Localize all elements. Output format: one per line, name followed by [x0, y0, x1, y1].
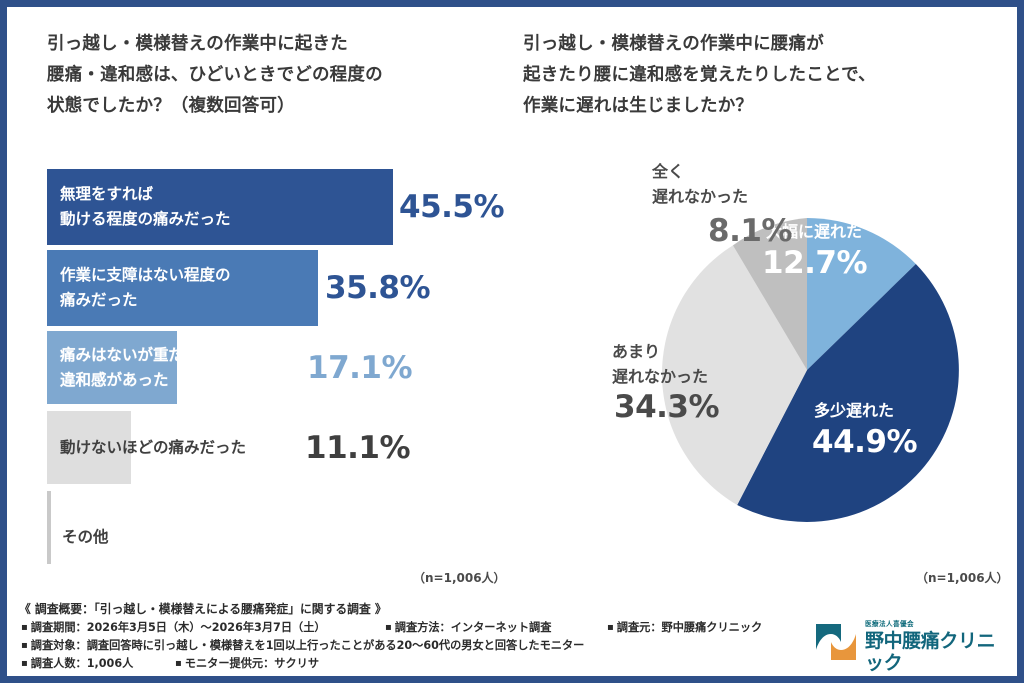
- logo-clinic-name: 野中腰痛クリニック: [865, 630, 1005, 674]
- pie-label-あまり遅れなかった: あまり 遅れなかった: [612, 339, 708, 389]
- bar-chart: 無理をすれば 動ける程度の痛みだった 45.5% 作業に支障はない程度の 痛みだ…: [7, 7, 512, 676]
- bar-fill: [47, 491, 51, 564]
- bar-value: 35.8%: [325, 270, 430, 306]
- bar-value: 11.1%: [305, 430, 410, 466]
- bar-label: その他: [62, 525, 109, 550]
- pie-value-あまり遅れなかった: 34.3%: [614, 389, 719, 425]
- bar-row: 動けないほどの痛みだった 11.1%: [47, 411, 407, 484]
- footer-heading: 《 調査概要：「引っ越し・模様替えによる腰痛発症」に関する調査 》: [19, 600, 387, 617]
- right-n-label: （n=1,006人）: [916, 569, 1009, 586]
- page-frame: 引っ越し・模様替えの作業中に起きた 腰痛・違和感は、ひどいときでどの程度の 状態…: [0, 0, 1024, 683]
- bar-value: 45.5%: [399, 189, 504, 225]
- footer-method: 調査方法：インターネット調査: [385, 619, 551, 635]
- logo-n-mark-icon: [813, 620, 859, 664]
- pie-value-全く遅れなかった: 8.1%: [708, 213, 792, 249]
- pie-label-多少遅れた: 多少遅れた: [814, 398, 894, 423]
- bar-label: 動けないほどの痛みだった: [60, 435, 246, 460]
- logo-text-block: 医療法人喜優会 野中腰痛クリニック Nonaka Lumbago Clinic: [865, 616, 1005, 676]
- bar-row: 無理をすれば 動ける程度の痛みだった 45.5%: [47, 169, 407, 245]
- bar-label: 無理をすれば 動ける程度の痛みだった: [60, 182, 231, 232]
- pie-label-全く遅れなかった: 全く 遅れなかった: [652, 159, 748, 209]
- footer-period: 調査期間：2026年3月5日（木）〜2026年3月7日（土）: [21, 619, 326, 635]
- bar-value: 17.1%: [307, 350, 412, 386]
- pie-chart: 大幅に遅れた 12.7% 多少遅れた 44.9% あまり 遅れなかった 34.3…: [512, 7, 1017, 676]
- bar-label: 痛みはないが重だるさや 違和感があった: [60, 343, 231, 393]
- footer: 《 調査概要：「引っ越し・模様替えによる腰痛発症」に関する調査 》 調査期間：2…: [7, 600, 1017, 676]
- pie-value-大幅に遅れた: 12.7%: [762, 245, 867, 281]
- bar-row: 作業に支障はない程度の 痛みだった 35.8%: [47, 250, 407, 326]
- footer-count: 調査人数：1,006人: [21, 655, 133, 671]
- logo-corp-name: 医療法人喜優会: [865, 619, 1005, 630]
- bar-label: 作業に支障はない程度の 痛みだった: [60, 263, 231, 313]
- bar-row: 痛みはないが重だるさや 違和感があった 17.1%: [47, 331, 407, 404]
- infographic-canvas: 引っ越し・模様替えの作業中に起きた 腰痛・違和感は、ひどいときでどの程度の 状態…: [7, 7, 1017, 676]
- footer-source: 調査元：野中腰痛クリニック: [607, 619, 762, 635]
- logo-roman-name: Nonaka Lumbago Clinic: [865, 674, 1005, 676]
- footer-provider: モニター提供元：サクリサ: [175, 655, 319, 671]
- pie-value-多少遅れた: 44.9%: [812, 424, 917, 460]
- clinic-logo: 医療法人喜優会 野中腰痛クリニック Nonaka Lumbago Clinic: [813, 616, 1003, 668]
- left-n-label: （n=1,006人）: [413, 569, 506, 586]
- bar-row: その他: [47, 491, 407, 564]
- footer-target: 調査対象：調査回答時に引っ越し・模様替えを1回以上行ったことがある20〜60代の…: [21, 637, 584, 653]
